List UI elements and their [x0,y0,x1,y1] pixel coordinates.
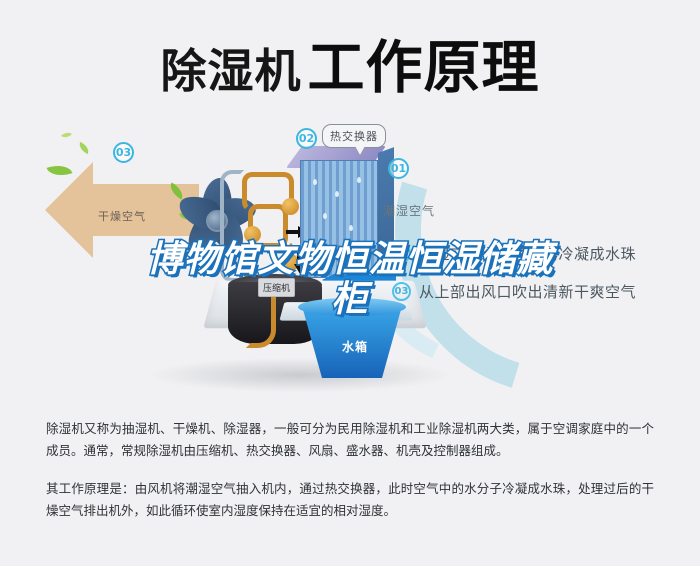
page-root: 除湿机工作原理 干燥空气 [0,0,700,566]
leaf-icon [61,130,72,140]
list-item: 03 从上部出风口吹出清新干爽空气 [392,280,692,302]
paragraph-1: 除湿机又称为抽湿机、干燥机、除湿器，一般可分为民用除湿机和工业除湿机两大类，属于… [46,418,654,462]
callout-badge-01: 01 [388,158,409,179]
flow-arrow-up-stem [247,258,251,272]
step-text: 潮湿空气经过蒸发器冷凝成水珠 [419,243,636,264]
callout-badge-03: 03 [113,142,134,163]
flow-arrow-up-icon [244,248,256,258]
water-tank-label: 水箱 [342,338,368,355]
moist-air-label: 潮湿空气 [383,202,435,219]
coil-joint [282,198,299,215]
description-text: 除湿机又称为抽湿机、干燥机、除湿器，一般可分为民用除湿机和工业除湿机两大类，属于… [46,418,654,522]
steps-list: 02 潮湿空气经过蒸发器冷凝成水珠 03 从上部出风口吹出清新干爽空气 [392,242,692,318]
compressor-pipe [246,288,276,348]
heat-exchanger-callout: 热交换器 [322,124,386,148]
list-item: 02 潮湿空气经过蒸发器冷凝成水珠 [392,242,692,264]
coil-joint [244,226,261,243]
step-badge: 03 [392,282,411,301]
leaf-icon [77,142,91,154]
dry-air-arrow-head [45,162,93,258]
water-tank: 水箱 [302,306,402,378]
water-tank-rim [298,298,406,316]
flow-arrow-right-stem [286,230,300,234]
step-text: 从上部出风口吹出清新干爽空气 [419,281,636,302]
title-part-one: 除湿机 [161,44,302,98]
dry-air-label: 干燥空气 [98,208,146,224]
heat-exchanger [300,160,378,278]
refrigerant-coil [238,168,304,286]
heat-exchanger-fins [300,160,378,278]
compressor-label: 压缩机 [258,278,295,297]
step-badge: 02 [392,244,411,263]
callout-badge-02: 02 [296,128,317,149]
ground-shadow [150,358,450,392]
paragraph-2: 其工作原理是：由风机将潮湿空气抽入机内，通过热交换器，此时空气中的水分子冷凝成水… [46,478,654,522]
coil-tube [220,170,244,282]
